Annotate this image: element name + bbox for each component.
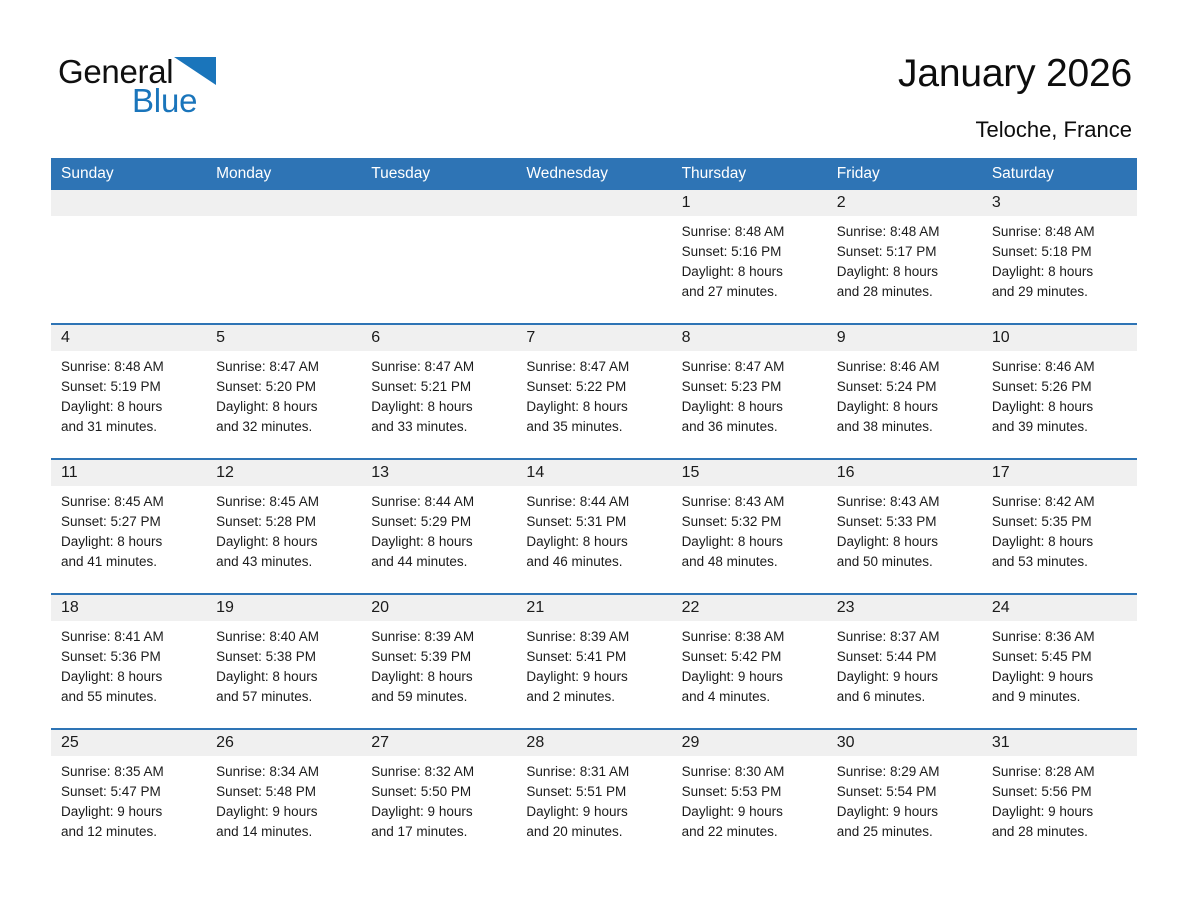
- day-cell[interactable]: 29 Sunrise: 8:30 AM Sunset: 5:53 PM Dayl…: [672, 729, 827, 863]
- daylight-text-line2: and 57 minutes.: [216, 687, 353, 707]
- day-details: Sunrise: 8:48 AM Sunset: 5:16 PM Dayligh…: [672, 216, 827, 302]
- weekday-header-saturday: Saturday: [982, 158, 1137, 190]
- day-cell[interactable]: 22 Sunrise: 8:38 AM Sunset: 5:42 PM Dayl…: [672, 594, 827, 729]
- daylight-text-line1: Daylight: 9 hours: [837, 667, 974, 687]
- logo-triangle-icon: [174, 57, 216, 85]
- sunset-text: Sunset: 5:24 PM: [837, 377, 974, 397]
- sunset-text: Sunset: 5:47 PM: [61, 782, 198, 802]
- daylight-text-line1: Daylight: 8 hours: [526, 532, 663, 552]
- day-cell[interactable]: 7 Sunrise: 8:47 AM Sunset: 5:22 PM Dayli…: [516, 324, 671, 459]
- sunset-text: Sunset: 5:54 PM: [837, 782, 974, 802]
- daylight-text-line1: Daylight: 8 hours: [837, 262, 974, 282]
- daylight-text-line1: Daylight: 9 hours: [61, 802, 198, 822]
- day-number: 6: [361, 325, 516, 351]
- daylight-text-line2: and 29 minutes.: [992, 282, 1129, 302]
- day-cell[interactable]: 21 Sunrise: 8:39 AM Sunset: 5:41 PM Dayl…: [516, 594, 671, 729]
- day-details: Sunrise: 8:47 AM Sunset: 5:20 PM Dayligh…: [206, 351, 361, 437]
- day-number: 23: [827, 595, 982, 621]
- day-cell[interactable]: 23 Sunrise: 8:37 AM Sunset: 5:44 PM Dayl…: [827, 594, 982, 729]
- sunrise-text: Sunrise: 8:47 AM: [371, 357, 508, 377]
- daylight-text-line1: Daylight: 8 hours: [371, 667, 508, 687]
- daylight-text-line2: and 25 minutes.: [837, 822, 974, 842]
- sunrise-text: Sunrise: 8:40 AM: [216, 627, 353, 647]
- sunset-text: Sunset: 5:44 PM: [837, 647, 974, 667]
- daylight-text-line2: and 28 minutes.: [837, 282, 974, 302]
- sunrise-text: Sunrise: 8:36 AM: [992, 627, 1129, 647]
- day-cell[interactable]: 19 Sunrise: 8:40 AM Sunset: 5:38 PM Dayl…: [206, 594, 361, 729]
- day-cell[interactable]: 17 Sunrise: 8:42 AM Sunset: 5:35 PM Dayl…: [982, 459, 1137, 594]
- day-cell[interactable]: 24 Sunrise: 8:36 AM Sunset: 5:45 PM Dayl…: [982, 594, 1137, 729]
- day-details: Sunrise: 8:35 AM Sunset: 5:47 PM Dayligh…: [51, 756, 206, 842]
- day-cell[interactable]: 28 Sunrise: 8:31 AM Sunset: 5:51 PM Dayl…: [516, 729, 671, 863]
- sunrise-text: Sunrise: 8:47 AM: [216, 357, 353, 377]
- daylight-text-line2: and 36 minutes.: [682, 417, 819, 437]
- daylight-text-line2: and 50 minutes.: [837, 552, 974, 572]
- sunset-text: Sunset: 5:33 PM: [837, 512, 974, 532]
- sunset-text: Sunset: 5:41 PM: [526, 647, 663, 667]
- daylight-text-line2: and 43 minutes.: [216, 552, 353, 572]
- daylight-text-line1: Daylight: 8 hours: [992, 532, 1129, 552]
- calendar-header-row: Sunday Monday Tuesday Wednesday Thursday…: [51, 158, 1137, 190]
- day-number: 11: [51, 460, 206, 486]
- day-details: Sunrise: 8:46 AM Sunset: 5:24 PM Dayligh…: [827, 351, 982, 437]
- day-details: Sunrise: 8:45 AM Sunset: 5:27 PM Dayligh…: [51, 486, 206, 572]
- day-cell[interactable]: 2 Sunrise: 8:48 AM Sunset: 5:17 PM Dayli…: [827, 190, 982, 324]
- sunrise-text: Sunrise: 8:39 AM: [526, 627, 663, 647]
- day-details: Sunrise: 8:43 AM Sunset: 5:32 PM Dayligh…: [672, 486, 827, 572]
- sunrise-text: Sunrise: 8:44 AM: [526, 492, 663, 512]
- day-details: Sunrise: 8:40 AM Sunset: 5:38 PM Dayligh…: [206, 621, 361, 707]
- day-details: Sunrise: 8:37 AM Sunset: 5:44 PM Dayligh…: [827, 621, 982, 707]
- daylight-text-line2: and 55 minutes.: [61, 687, 198, 707]
- day-cell[interactable]: 31 Sunrise: 8:28 AM Sunset: 5:56 PM Dayl…: [982, 729, 1137, 863]
- daylight-text-line2: and 14 minutes.: [216, 822, 353, 842]
- day-cell[interactable]: 5 Sunrise: 8:47 AM Sunset: 5:20 PM Dayli…: [206, 324, 361, 459]
- daylight-text-line1: Daylight: 8 hours: [992, 262, 1129, 282]
- sunset-text: Sunset: 5:51 PM: [526, 782, 663, 802]
- day-details: Sunrise: 8:48 AM Sunset: 5:19 PM Dayligh…: [51, 351, 206, 437]
- day-details: Sunrise: 8:39 AM Sunset: 5:41 PM Dayligh…: [516, 621, 671, 707]
- calendar-body: 1 Sunrise: 8:48 AM Sunset: 5:16 PM Dayli…: [51, 190, 1137, 863]
- day-number: [51, 190, 206, 216]
- sunset-text: Sunset: 5:20 PM: [216, 377, 353, 397]
- day-cell[interactable]: 13 Sunrise: 8:44 AM Sunset: 5:29 PM Dayl…: [361, 459, 516, 594]
- sunrise-text: Sunrise: 8:30 AM: [682, 762, 819, 782]
- day-cell[interactable]: 30 Sunrise: 8:29 AM Sunset: 5:54 PM Dayl…: [827, 729, 982, 863]
- day-number: 20: [361, 595, 516, 621]
- daylight-text-line2: and 53 minutes.: [992, 552, 1129, 572]
- sunrise-text: Sunrise: 8:31 AM: [526, 762, 663, 782]
- day-number: 8: [672, 325, 827, 351]
- daylight-text-line1: Daylight: 8 hours: [61, 532, 198, 552]
- daylight-text-line2: and 39 minutes.: [992, 417, 1129, 437]
- day-details: Sunrise: 8:39 AM Sunset: 5:39 PM Dayligh…: [361, 621, 516, 707]
- daylight-text-line1: Daylight: 9 hours: [682, 667, 819, 687]
- sunrise-text: Sunrise: 8:43 AM: [682, 492, 819, 512]
- sunset-text: Sunset: 5:19 PM: [61, 377, 198, 397]
- day-details: Sunrise: 8:41 AM Sunset: 5:36 PM Dayligh…: [51, 621, 206, 707]
- sunrise-text: Sunrise: 8:44 AM: [371, 492, 508, 512]
- sunrise-text: Sunrise: 8:48 AM: [61, 357, 198, 377]
- sunset-text: Sunset: 5:35 PM: [992, 512, 1129, 532]
- daylight-text-line1: Daylight: 8 hours: [371, 532, 508, 552]
- day-details: Sunrise: 8:44 AM Sunset: 5:29 PM Dayligh…: [361, 486, 516, 572]
- sunset-text: Sunset: 5:31 PM: [526, 512, 663, 532]
- day-number: 4: [51, 325, 206, 351]
- day-cell[interactable]: 14 Sunrise: 8:44 AM Sunset: 5:31 PM Dayl…: [516, 459, 671, 594]
- daylight-text-line2: and 22 minutes.: [682, 822, 819, 842]
- daylight-text-line2: and 32 minutes.: [216, 417, 353, 437]
- daylight-text-line1: Daylight: 9 hours: [526, 667, 663, 687]
- general-blue-logo: General Blue: [58, 54, 318, 124]
- daylight-text-line2: and 35 minutes.: [526, 417, 663, 437]
- day-number: 31: [982, 730, 1137, 756]
- daylight-text-line2: and 4 minutes.: [682, 687, 819, 707]
- sunset-text: Sunset: 5:42 PM: [682, 647, 819, 667]
- day-details: Sunrise: 8:48 AM Sunset: 5:18 PM Dayligh…: [982, 216, 1137, 302]
- page-header: General Blue January 2026 Teloche, Franc…: [0, 0, 1188, 150]
- sunset-text: Sunset: 5:36 PM: [61, 647, 198, 667]
- weekday-header-wednesday: Wednesday: [516, 158, 671, 190]
- day-cell-empty: [206, 190, 361, 324]
- day-cell[interactable]: 3 Sunrise: 8:48 AM Sunset: 5:18 PM Dayli…: [982, 190, 1137, 324]
- daylight-text-line2: and 17 minutes.: [371, 822, 508, 842]
- day-cell[interactable]: 20 Sunrise: 8:39 AM Sunset: 5:39 PM Dayl…: [361, 594, 516, 729]
- day-details: Sunrise: 8:43 AM Sunset: 5:33 PM Dayligh…: [827, 486, 982, 572]
- daylight-text-line2: and 9 minutes.: [992, 687, 1129, 707]
- day-number: 9: [827, 325, 982, 351]
- day-number: 22: [672, 595, 827, 621]
- daylight-text-line1: Daylight: 8 hours: [837, 532, 974, 552]
- page-title: January 2026: [898, 52, 1132, 96]
- daylight-text-line1: Daylight: 8 hours: [837, 397, 974, 417]
- day-details: Sunrise: 8:29 AM Sunset: 5:54 PM Dayligh…: [827, 756, 982, 842]
- daylight-text-line1: Daylight: 8 hours: [682, 532, 819, 552]
- sunrise-text: Sunrise: 8:29 AM: [837, 762, 974, 782]
- day-details: Sunrise: 8:46 AM Sunset: 5:26 PM Dayligh…: [982, 351, 1137, 437]
- sunset-text: Sunset: 5:17 PM: [837, 242, 974, 262]
- sunset-text: Sunset: 5:28 PM: [216, 512, 353, 532]
- daylight-text-line2: and 31 minutes.: [61, 417, 198, 437]
- daylight-text-line1: Daylight: 8 hours: [61, 667, 198, 687]
- daylight-text-line2: and 46 minutes.: [526, 552, 663, 572]
- day-number: 30: [827, 730, 982, 756]
- daylight-text-line1: Daylight: 9 hours: [371, 802, 508, 822]
- sunset-text: Sunset: 5:56 PM: [992, 782, 1129, 802]
- day-number: 7: [516, 325, 671, 351]
- day-cell[interactable]: 27 Sunrise: 8:32 AM Sunset: 5:50 PM Dayl…: [361, 729, 516, 863]
- day-cell[interactable]: 9 Sunrise: 8:46 AM Sunset: 5:24 PM Dayli…: [827, 324, 982, 459]
- daylight-text-line1: Daylight: 8 hours: [526, 397, 663, 417]
- day-details: Sunrise: 8:48 AM Sunset: 5:17 PM Dayligh…: [827, 216, 982, 302]
- sunset-text: Sunset: 5:53 PM: [682, 782, 819, 802]
- day-details: Sunrise: 8:38 AM Sunset: 5:42 PM Dayligh…: [672, 621, 827, 707]
- day-number: [361, 190, 516, 216]
- weekday-header-monday: Monday: [206, 158, 361, 190]
- day-cell[interactable]: 16 Sunrise: 8:43 AM Sunset: 5:33 PM Dayl…: [827, 459, 982, 594]
- sunrise-text: Sunrise: 8:45 AM: [216, 492, 353, 512]
- sunrise-text: Sunrise: 8:35 AM: [61, 762, 198, 782]
- day-details: Sunrise: 8:28 AM Sunset: 5:56 PM Dayligh…: [982, 756, 1137, 842]
- sunset-text: Sunset: 5:50 PM: [371, 782, 508, 802]
- page-subtitle-location: Teloche, France: [975, 117, 1132, 143]
- sunset-text: Sunset: 5:38 PM: [216, 647, 353, 667]
- sunrise-text: Sunrise: 8:43 AM: [837, 492, 974, 512]
- sunset-text: Sunset: 5:48 PM: [216, 782, 353, 802]
- daylight-text-line1: Daylight: 9 hours: [837, 802, 974, 822]
- sunset-text: Sunset: 5:21 PM: [371, 377, 508, 397]
- day-details: Sunrise: 8:32 AM Sunset: 5:50 PM Dayligh…: [361, 756, 516, 842]
- day-cell[interactable]: 18 Sunrise: 8:41 AM Sunset: 5:36 PM Dayl…: [51, 594, 206, 729]
- daylight-text-line1: Daylight: 8 hours: [216, 532, 353, 552]
- day-number: 17: [982, 460, 1137, 486]
- daylight-text-line2: and 33 minutes.: [371, 417, 508, 437]
- daylight-text-line1: Daylight: 9 hours: [526, 802, 663, 822]
- daylight-text-line1: Daylight: 8 hours: [216, 397, 353, 417]
- day-cell-empty: [51, 190, 206, 324]
- sunset-text: Sunset: 5:23 PM: [682, 377, 819, 397]
- weekday-header-friday: Friday: [827, 158, 982, 190]
- daylight-text-line1: Daylight: 9 hours: [992, 802, 1129, 822]
- daylight-text-line2: and 6 minutes.: [837, 687, 974, 707]
- sunrise-text: Sunrise: 8:39 AM: [371, 627, 508, 647]
- sunrise-text: Sunrise: 8:48 AM: [992, 222, 1129, 242]
- day-cell[interactable]: 11 Sunrise: 8:45 AM Sunset: 5:27 PM Dayl…: [51, 459, 206, 594]
- sunrise-text: Sunrise: 8:37 AM: [837, 627, 974, 647]
- calendar-week-row: 18 Sunrise: 8:41 AM Sunset: 5:36 PM Dayl…: [51, 594, 1137, 729]
- sunrise-text: Sunrise: 8:38 AM: [682, 627, 819, 647]
- day-number: 3: [982, 190, 1137, 216]
- daylight-text-line2: and 28 minutes.: [992, 822, 1129, 842]
- day-details: Sunrise: 8:47 AM Sunset: 5:23 PM Dayligh…: [672, 351, 827, 437]
- daylight-text-line1: Daylight: 8 hours: [682, 397, 819, 417]
- day-number: 13: [361, 460, 516, 486]
- calendar-page: General Blue January 2026 Teloche, Franc…: [0, 0, 1188, 918]
- day-number: 19: [206, 595, 361, 621]
- day-number: 28: [516, 730, 671, 756]
- day-cell[interactable]: 1 Sunrise: 8:48 AM Sunset: 5:16 PM Dayli…: [672, 190, 827, 324]
- sunrise-text: Sunrise: 8:42 AM: [992, 492, 1129, 512]
- calendar-week-row: 4 Sunrise: 8:48 AM Sunset: 5:19 PM Dayli…: [51, 324, 1137, 459]
- calendar-week-row: 11 Sunrise: 8:45 AM Sunset: 5:27 PM Dayl…: [51, 459, 1137, 594]
- day-number: 24: [982, 595, 1137, 621]
- daylight-text-line1: Daylight: 8 hours: [371, 397, 508, 417]
- day-number: 25: [51, 730, 206, 756]
- day-number: 2: [827, 190, 982, 216]
- sunset-text: Sunset: 5:26 PM: [992, 377, 1129, 397]
- day-cell[interactable]: 8 Sunrise: 8:47 AM Sunset: 5:23 PM Dayli…: [672, 324, 827, 459]
- sunrise-text: Sunrise: 8:41 AM: [61, 627, 198, 647]
- sunrise-text: Sunrise: 8:47 AM: [526, 357, 663, 377]
- daylight-text-line1: Daylight: 8 hours: [216, 667, 353, 687]
- sunrise-text: Sunrise: 8:45 AM: [61, 492, 198, 512]
- sunset-text: Sunset: 5:18 PM: [992, 242, 1129, 262]
- day-cell-empty: [516, 190, 671, 324]
- sunrise-text: Sunrise: 8:48 AM: [837, 222, 974, 242]
- daylight-text-line2: and 38 minutes.: [837, 417, 974, 437]
- day-cell[interactable]: 26 Sunrise: 8:34 AM Sunset: 5:48 PM Dayl…: [206, 729, 361, 863]
- logo-text-blue: Blue: [132, 82, 197, 120]
- calendar-week-row: 25 Sunrise: 8:35 AM Sunset: 5:47 PM Dayl…: [51, 729, 1137, 863]
- day-number: 5: [206, 325, 361, 351]
- day-number: 10: [982, 325, 1137, 351]
- sunrise-text: Sunrise: 8:32 AM: [371, 762, 508, 782]
- daylight-text-line1: Daylight: 8 hours: [992, 397, 1129, 417]
- day-number: 1: [672, 190, 827, 216]
- weekday-header-tuesday: Tuesday: [361, 158, 516, 190]
- sunset-text: Sunset: 5:45 PM: [992, 647, 1129, 667]
- day-cell[interactable]: 10 Sunrise: 8:46 AM Sunset: 5:26 PM Dayl…: [982, 324, 1137, 459]
- sunset-text: Sunset: 5:32 PM: [682, 512, 819, 532]
- daylight-text-line1: Daylight: 8 hours: [61, 397, 198, 417]
- daylight-text-line2: and 12 minutes.: [61, 822, 198, 842]
- day-number: 29: [672, 730, 827, 756]
- day-details: Sunrise: 8:42 AM Sunset: 5:35 PM Dayligh…: [982, 486, 1137, 572]
- daylight-text-line1: Daylight: 8 hours: [682, 262, 819, 282]
- sunset-text: Sunset: 5:29 PM: [371, 512, 508, 532]
- day-details: Sunrise: 8:47 AM Sunset: 5:22 PM Dayligh…: [516, 351, 671, 437]
- sunset-text: Sunset: 5:22 PM: [526, 377, 663, 397]
- calendar-week-row: 1 Sunrise: 8:48 AM Sunset: 5:16 PM Dayli…: [51, 190, 1137, 324]
- day-details: Sunrise: 8:47 AM Sunset: 5:21 PM Dayligh…: [361, 351, 516, 437]
- sunrise-text: Sunrise: 8:46 AM: [837, 357, 974, 377]
- sunrise-text: Sunrise: 8:28 AM: [992, 762, 1129, 782]
- day-number: 18: [51, 595, 206, 621]
- day-number: 16: [827, 460, 982, 486]
- day-number: [206, 190, 361, 216]
- day-number: 14: [516, 460, 671, 486]
- day-details: Sunrise: 8:31 AM Sunset: 5:51 PM Dayligh…: [516, 756, 671, 842]
- sunrise-text: Sunrise: 8:46 AM: [992, 357, 1129, 377]
- sunrise-text: Sunrise: 8:47 AM: [682, 357, 819, 377]
- day-cell[interactable]: 25 Sunrise: 8:35 AM Sunset: 5:47 PM Dayl…: [51, 729, 206, 863]
- daylight-text-line2: and 20 minutes.: [526, 822, 663, 842]
- day-number: [516, 190, 671, 216]
- day-number: 27: [361, 730, 516, 756]
- daylight-text-line1: Daylight: 9 hours: [682, 802, 819, 822]
- sunrise-text: Sunrise: 8:48 AM: [682, 222, 819, 242]
- weekday-header-thursday: Thursday: [672, 158, 827, 190]
- day-cell[interactable]: 15 Sunrise: 8:43 AM Sunset: 5:32 PM Dayl…: [672, 459, 827, 594]
- sunrise-sunset-calendar: Sunday Monday Tuesday Wednesday Thursday…: [51, 158, 1137, 863]
- day-cell-empty: [361, 190, 516, 324]
- day-number: 21: [516, 595, 671, 621]
- day-number: 15: [672, 460, 827, 486]
- daylight-text-line2: and 41 minutes.: [61, 552, 198, 572]
- daylight-text-line2: and 44 minutes.: [371, 552, 508, 572]
- daylight-text-line2: and 27 minutes.: [682, 282, 819, 302]
- daylight-text-line1: Daylight: 9 hours: [992, 667, 1129, 687]
- sunrise-text: Sunrise: 8:34 AM: [216, 762, 353, 782]
- daylight-text-line1: Daylight: 9 hours: [216, 802, 353, 822]
- day-cell[interactable]: 6 Sunrise: 8:47 AM Sunset: 5:21 PM Dayli…: [361, 324, 516, 459]
- day-number: 26: [206, 730, 361, 756]
- day-details: Sunrise: 8:36 AM Sunset: 5:45 PM Dayligh…: [982, 621, 1137, 707]
- weekday-header-sunday: Sunday: [51, 158, 206, 190]
- day-details: Sunrise: 8:34 AM Sunset: 5:48 PM Dayligh…: [206, 756, 361, 842]
- day-details: Sunrise: 8:44 AM Sunset: 5:31 PM Dayligh…: [516, 486, 671, 572]
- day-details: Sunrise: 8:30 AM Sunset: 5:53 PM Dayligh…: [672, 756, 827, 842]
- sunset-text: Sunset: 5:27 PM: [61, 512, 198, 532]
- sunset-text: Sunset: 5:16 PM: [682, 242, 819, 262]
- daylight-text-line2: and 59 minutes.: [371, 687, 508, 707]
- daylight-text-line2: and 48 minutes.: [682, 552, 819, 572]
- day-number: 12: [206, 460, 361, 486]
- daylight-text-line2: and 2 minutes.: [526, 687, 663, 707]
- day-cell[interactable]: 4 Sunrise: 8:48 AM Sunset: 5:19 PM Dayli…: [51, 324, 206, 459]
- sunset-text: Sunset: 5:39 PM: [371, 647, 508, 667]
- day-details: Sunrise: 8:45 AM Sunset: 5:28 PM Dayligh…: [206, 486, 361, 572]
- day-cell[interactable]: 12 Sunrise: 8:45 AM Sunset: 5:28 PM Dayl…: [206, 459, 361, 594]
